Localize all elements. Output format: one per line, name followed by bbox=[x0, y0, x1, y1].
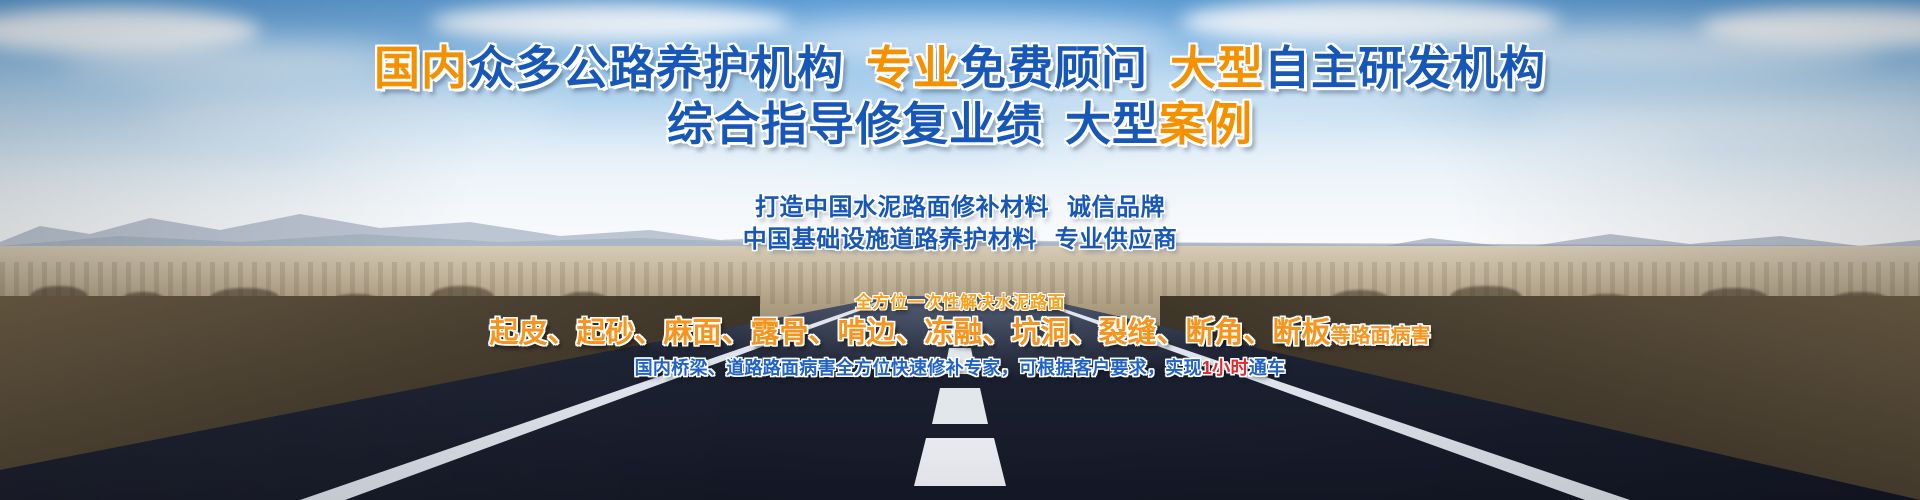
bottom-line-3-lead: 国内桥梁、道路路面病害全方位快速修补专家，可根据客户要求，实现 bbox=[635, 358, 1202, 378]
bottom-line-3: 国内桥梁、道路路面病害全方位快速修补专家，可根据客户要求，实现1小时通车 bbox=[0, 355, 1920, 381]
subheadline-block: 打造中国水泥路面修补材料诚信品牌 中国基础设施道路养护材料专业供应商 bbox=[0, 192, 1920, 256]
headline-line-2: 综合指导修复业绩大型案例 bbox=[0, 96, 1920, 152]
headline-seg-zhuanye: 专业 bbox=[866, 42, 960, 94]
promo-banner: 国内众多公路养护机构专业免费顾问大型自主研发机构 综合指导修复业绩大型案例 打造… bbox=[0, 0, 1920, 500]
bottom-line-2: 起皮、起砂、麻面、露骨、啃边、冻融、坑洞、裂缝、断角、断板等路面病害 bbox=[0, 314, 1920, 355]
defect-list-suffix: 等路面病害 bbox=[1331, 325, 1431, 347]
headline-seg-zonghe: 综合指导修复业绩 bbox=[667, 98, 1043, 150]
defect-list: 起皮、起砂、麻面、露骨、啃边、冻融、坑洞、裂缝、断角、断板 bbox=[489, 317, 1330, 349]
headline: 国内众多公路养护机构专业免费顾问大型自主研发机构 综合指导修复业绩大型案例 bbox=[0, 40, 1920, 152]
headline-seg-zhongduo: 众多公路养护机构 bbox=[468, 42, 844, 94]
bottom-text-block: 全方位一次性解决水泥路面 起皮、起砂、麻面、露骨、啃边、冻融、坑洞、裂缝、断角、… bbox=[0, 292, 1920, 381]
headline-seg-daxing: 大型 bbox=[1170, 42, 1264, 94]
bottom-line-3-tail: 通车 bbox=[1249, 358, 1286, 378]
headline-seg-mianfei: 免费顾问 bbox=[960, 42, 1148, 94]
headline-line-1: 国内众多公路养护机构专业免费顾问大型自主研发机构 bbox=[0, 40, 1920, 96]
subheadline-2b: 专业供应商 bbox=[1055, 226, 1178, 253]
subheadline-1b: 诚信品牌 bbox=[1067, 194, 1165, 221]
bottom-line-1: 全方位一次性解决水泥路面 bbox=[0, 292, 1920, 314]
headline-seg-zizhu: 自主研发机构 bbox=[1264, 42, 1546, 94]
headline-seg-guonei: 国内 bbox=[374, 42, 468, 94]
subheadline-line-1: 打造中国水泥路面修补材料诚信品牌 bbox=[0, 192, 1920, 224]
highlight-one-hour: 1小时 bbox=[1202, 358, 1249, 378]
cloud bbox=[430, 4, 790, 42]
subheadline-1a: 打造中国水泥路面修补材料 bbox=[755, 194, 1049, 221]
subheadline-2a: 中国基础设施道路养护材料 bbox=[743, 226, 1037, 253]
subheadline-line-2: 中国基础设施道路养护材料专业供应商 bbox=[0, 224, 1920, 256]
headline-seg-anli: 案例 bbox=[1159, 98, 1253, 150]
headline-seg-daxing2: 大型 bbox=[1065, 98, 1159, 150]
